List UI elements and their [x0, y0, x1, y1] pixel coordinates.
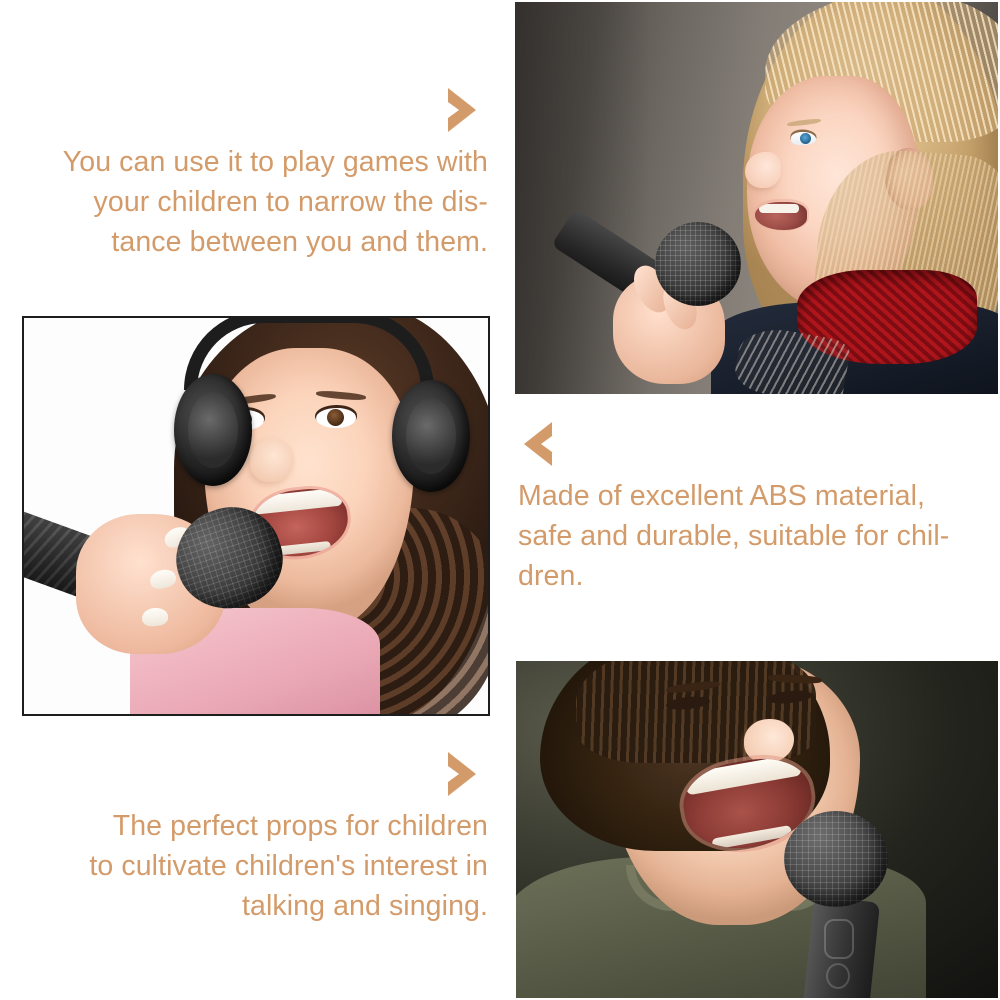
feature-abs-material: Made of excellent ABS material, safe and…	[518, 418, 996, 596]
microphone-head	[655, 222, 741, 306]
headphone-ear-cup	[174, 374, 252, 486]
girl-eye	[791, 132, 816, 145]
photo-boy-singing	[516, 661, 998, 998]
product-feature-collage: You can use it to play games with your c…	[0, 0, 1000, 1000]
microphone-switch	[824, 919, 854, 959]
feature-play-games-text: You can use it to play games with your c…	[16, 84, 488, 262]
photo-girl-singing	[515, 2, 998, 394]
feature-abs-material-text: Made of excellent ABS material, safe and…	[518, 418, 996, 596]
feature-perfect-props-text: The perfect props for children to cultiv…	[16, 748, 488, 926]
photo-woman-headphones	[22, 316, 490, 716]
girl-nose	[745, 152, 781, 188]
microphone-button	[826, 963, 850, 989]
chevron-right-icon	[442, 84, 482, 136]
girl-mouth	[755, 202, 807, 230]
feature-perfect-props: The perfect props for children to cultiv…	[16, 748, 488, 926]
microphone-head	[784, 811, 888, 907]
woman-eye	[316, 408, 356, 428]
chevron-right-icon	[442, 748, 482, 800]
feature-play-games: You can use it to play games with your c…	[16, 84, 488, 262]
headphone-ear-cup	[392, 380, 470, 492]
chevron-left-icon	[518, 418, 558, 470]
